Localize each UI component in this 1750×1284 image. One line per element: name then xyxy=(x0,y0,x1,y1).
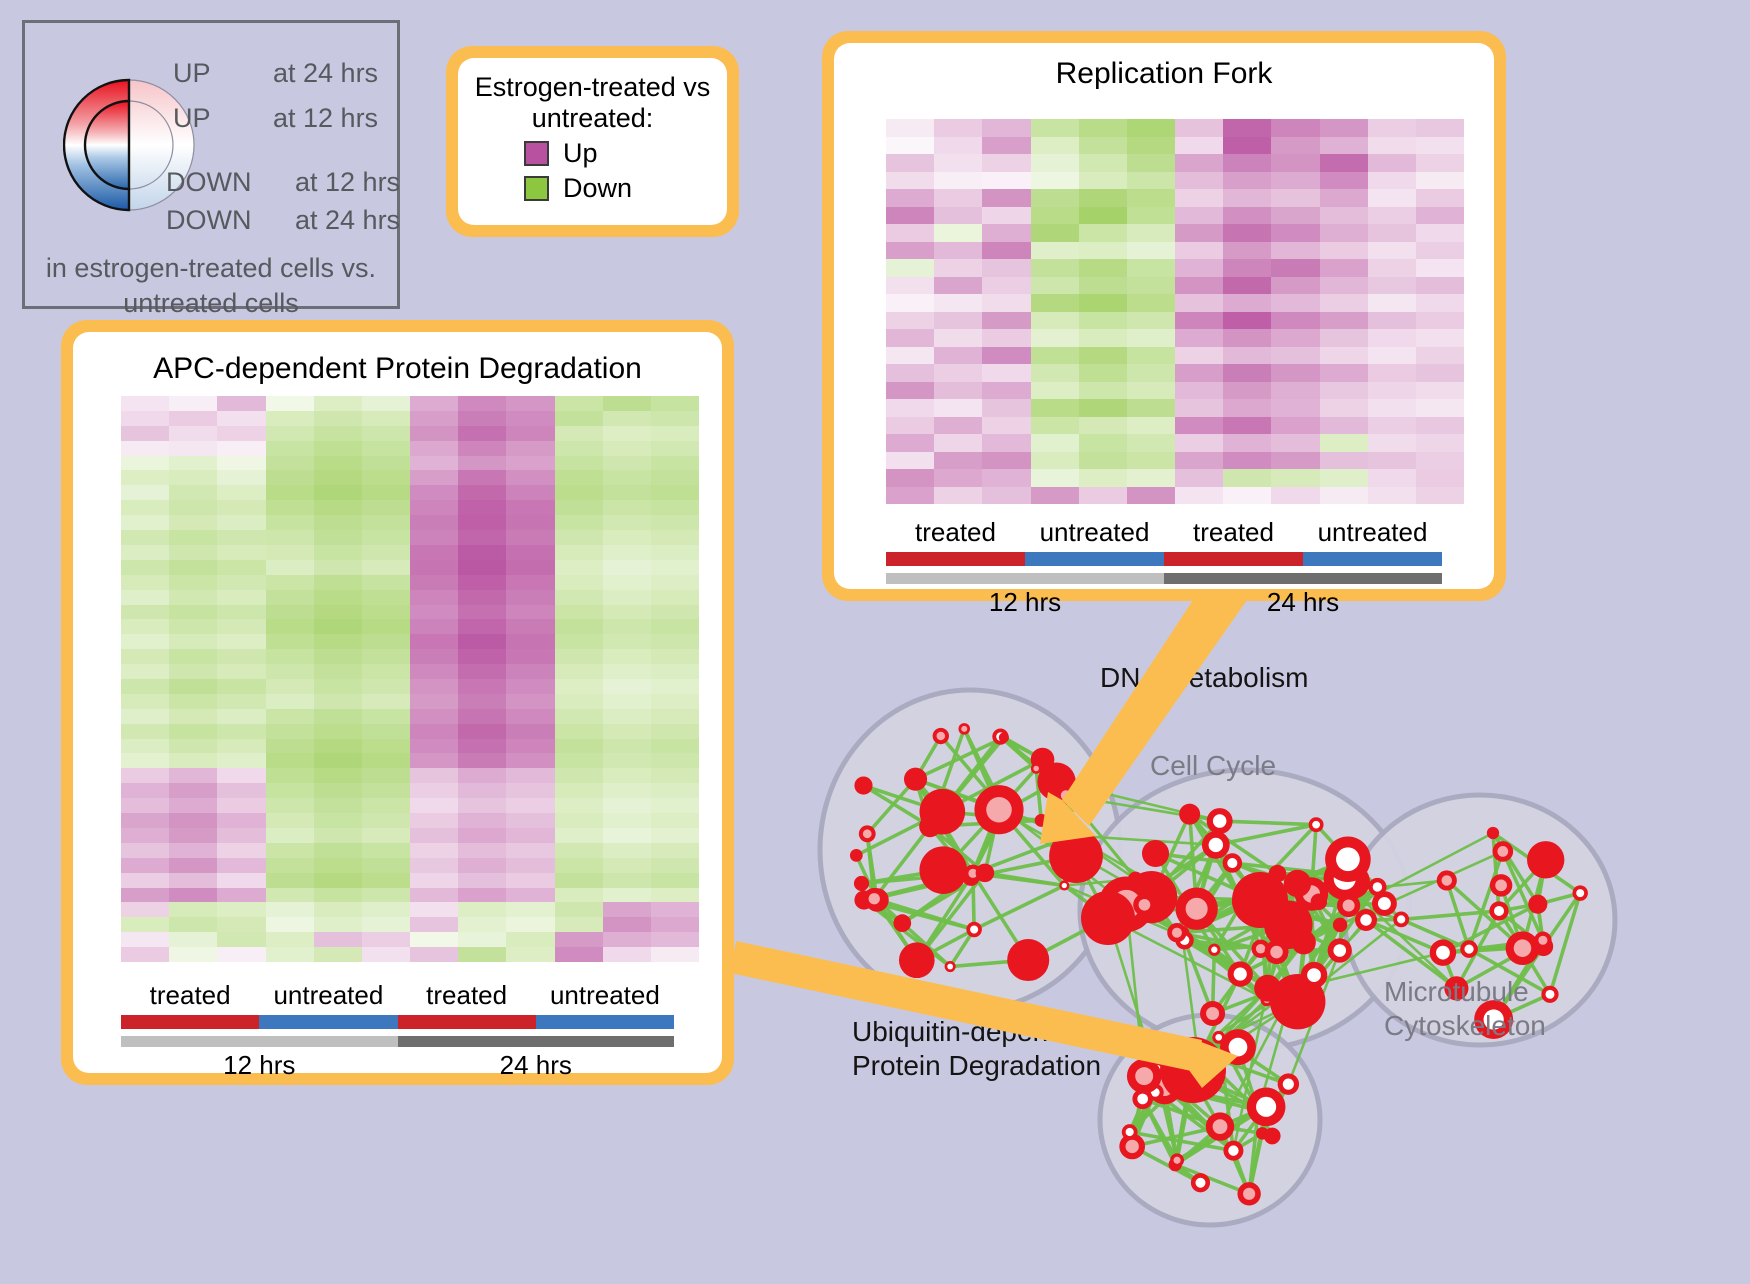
heatmap-cell xyxy=(169,634,217,649)
heatmap-cell xyxy=(1271,137,1319,155)
heatmap-cell xyxy=(934,452,982,470)
heatmap-cell xyxy=(1271,224,1319,242)
network-node xyxy=(1160,1037,1226,1103)
heatmap-cell xyxy=(982,452,1030,470)
heatmap-cell xyxy=(410,441,458,456)
heatmap-cell xyxy=(1368,434,1416,452)
heatmap-cell xyxy=(169,694,217,709)
heatmap-cell xyxy=(169,649,217,664)
heatmap-cell xyxy=(1223,242,1271,260)
heatmap-cell xyxy=(266,500,314,515)
heatmap-cell xyxy=(1368,189,1416,207)
heatmap-cell xyxy=(121,709,169,724)
heatmap-cell xyxy=(1223,399,1271,417)
heatmap-cell xyxy=(266,873,314,888)
heatmap-cell xyxy=(886,312,934,330)
heatmap-cell xyxy=(121,470,169,485)
heatmap-cell xyxy=(362,575,410,590)
heatmap-cell xyxy=(1031,487,1079,505)
heatmap-cell xyxy=(651,888,699,903)
heatmap-cell xyxy=(1031,434,1079,452)
heatmap-cell xyxy=(1320,172,1368,190)
heatmap-cell xyxy=(362,858,410,873)
heatmap-cell xyxy=(934,329,982,347)
heatmap-cell xyxy=(217,873,265,888)
heatmap-cell xyxy=(458,694,506,709)
heatmap-cell xyxy=(217,783,265,798)
heatmap-cell xyxy=(1175,277,1223,295)
heatmap-cell xyxy=(217,530,265,545)
column-label: untreated xyxy=(1303,517,1442,548)
heatmap-cell xyxy=(217,813,265,828)
network-node-core xyxy=(1195,1178,1205,1188)
heatmap-cell xyxy=(410,500,458,515)
heatmap-cell xyxy=(1175,312,1223,330)
heatmap-cell xyxy=(555,902,603,917)
heatmap-cell xyxy=(651,664,699,679)
heatmap-cell xyxy=(506,485,554,500)
heatmap-cell xyxy=(410,843,458,858)
heatmap-cell xyxy=(314,530,362,545)
heatmap-cell xyxy=(982,487,1030,505)
treatment-bar-segment xyxy=(121,1015,259,1029)
heatmap-cell xyxy=(314,813,362,828)
cluster-label-cell-cycle: Cell Cycle xyxy=(1150,750,1276,782)
heatmap-cell xyxy=(217,485,265,500)
heatmap-cell xyxy=(886,277,934,295)
up-colour-swatch xyxy=(524,141,549,166)
heatmap-cell xyxy=(1031,399,1079,417)
treatment-bar-segment xyxy=(259,1015,397,1029)
heatmap-cell xyxy=(603,917,651,932)
heatmap-cell xyxy=(169,724,217,739)
heatmap-cell xyxy=(651,902,699,917)
network-node-core xyxy=(937,732,946,741)
heatmap-cell xyxy=(121,590,169,605)
heatmap-cell xyxy=(1223,487,1271,505)
heatmap-cell xyxy=(603,813,651,828)
heatmap-cell xyxy=(603,783,651,798)
heatmap-cell xyxy=(1416,207,1464,225)
network-svg xyxy=(790,600,1750,1279)
key-label-down: Down xyxy=(563,173,632,204)
heatmap-cell xyxy=(651,932,699,947)
heatmap-cell xyxy=(982,259,1030,277)
heatmap-cell xyxy=(458,560,506,575)
heatmap-cell xyxy=(555,768,603,783)
heatmap-cell xyxy=(458,917,506,932)
heatmap-cell xyxy=(217,828,265,843)
heatmap-cell xyxy=(217,858,265,873)
column-label: treated xyxy=(1164,517,1303,548)
network-node-core xyxy=(1307,968,1321,982)
heatmap-cell xyxy=(1031,207,1079,225)
heatmap-cell xyxy=(362,545,410,560)
heatmap-cell xyxy=(410,783,458,798)
heatmap-cell xyxy=(169,500,217,515)
heatmap-cell xyxy=(555,441,603,456)
heatmap-cell xyxy=(458,545,506,560)
heatmap-cell xyxy=(982,294,1030,312)
network-node xyxy=(1311,893,1328,910)
heatmap-cell xyxy=(934,189,982,207)
heatmap-cell xyxy=(982,154,1030,172)
heatmap-cell xyxy=(1368,154,1416,172)
heatmap-cell xyxy=(169,515,217,530)
heatmap-cell xyxy=(1320,434,1368,452)
heatmap-cell xyxy=(314,470,362,485)
heatmap-cell xyxy=(314,679,362,694)
heatmap-cell xyxy=(1175,434,1223,452)
heatmap-cell xyxy=(458,649,506,664)
heatmap-cell xyxy=(314,441,362,456)
heatmap-cell xyxy=(651,634,699,649)
heatmap-cell xyxy=(362,634,410,649)
heatmap-cell xyxy=(886,137,934,155)
heatmap-cell xyxy=(169,813,217,828)
heatmap-cell xyxy=(934,119,982,137)
heatmap-cell xyxy=(1175,172,1223,190)
heatmap-cell xyxy=(266,724,314,739)
heatmap-cell xyxy=(555,798,603,813)
heatmap-cell xyxy=(314,917,362,932)
heatmap-cell xyxy=(458,947,506,962)
heatmap-cell xyxy=(266,619,314,634)
treatment-bar-segment xyxy=(1303,552,1442,566)
heatmap-cell xyxy=(314,575,362,590)
heatmap-cell xyxy=(458,441,506,456)
colour-scale-legend-box: UP at 24 hrs UP at 12 hrs DOWN at 12 hrs… xyxy=(22,20,400,309)
heatmap-cell xyxy=(1271,417,1319,435)
heatmap-cell xyxy=(506,917,554,932)
heatmap-cell xyxy=(651,441,699,456)
heatmap-cell xyxy=(217,411,265,426)
heatmap-cell xyxy=(314,664,362,679)
heatmap-cell xyxy=(217,888,265,903)
network-node-core xyxy=(1270,946,1283,959)
heatmap-cell xyxy=(410,858,458,873)
network-node xyxy=(1179,804,1200,825)
heatmap-cell xyxy=(1223,347,1271,365)
heatmap-cell xyxy=(458,932,506,947)
heatmap-cell xyxy=(555,917,603,932)
heatmap-cell xyxy=(266,888,314,903)
heatmap-cell xyxy=(410,947,458,962)
network-node xyxy=(893,914,911,932)
heatmap-cell xyxy=(506,768,554,783)
heatmap-cell xyxy=(362,828,410,843)
heatmap-cell xyxy=(1031,452,1079,470)
heatmap-cell xyxy=(314,828,362,843)
heatmap-cell xyxy=(410,679,458,694)
heatmap-cell xyxy=(506,470,554,485)
heatmap-cell xyxy=(1271,329,1319,347)
heatmap-cell xyxy=(1079,154,1127,172)
heatmap-cell xyxy=(1175,329,1223,347)
network-node-core xyxy=(1373,882,1382,891)
heatmap-cell xyxy=(506,634,554,649)
heatmap-cell xyxy=(1271,259,1319,277)
heatmap-cell xyxy=(982,242,1030,260)
heatmap-cell xyxy=(555,500,603,515)
heatmap-cell xyxy=(410,828,458,843)
heatmap-cell xyxy=(934,172,982,190)
heatmap-cell xyxy=(506,709,554,724)
heatmap-cell xyxy=(121,858,169,873)
heatmap-cell xyxy=(458,530,506,545)
replication-fork-title: Replication Fork xyxy=(834,43,1494,91)
heatmap-cell xyxy=(266,411,314,426)
heatmap-cell xyxy=(314,619,362,634)
heatmap-cell xyxy=(506,590,554,605)
heatmap-cell xyxy=(458,768,506,783)
heatmap-cell xyxy=(603,470,651,485)
network-node xyxy=(1128,872,1143,887)
heatmap-cell xyxy=(410,605,458,620)
heatmap-cell xyxy=(1079,259,1127,277)
heatmap-cell xyxy=(410,694,458,709)
heatmap-cell xyxy=(555,783,603,798)
heatmap-cell xyxy=(266,590,314,605)
heatmap-cell xyxy=(169,441,217,456)
heatmap-cell xyxy=(1223,224,1271,242)
heatmap-cell xyxy=(121,873,169,888)
heatmap-cell xyxy=(217,470,265,485)
heatmap-cell xyxy=(266,679,314,694)
heatmap-cell xyxy=(121,575,169,590)
heatmap-cell xyxy=(121,396,169,411)
heatmap-cell xyxy=(169,828,217,843)
heatmap-cell xyxy=(1320,347,1368,365)
heatmap-cell xyxy=(651,873,699,888)
network-node-core xyxy=(1497,846,1508,857)
heatmap-cell xyxy=(169,739,217,754)
heatmap-cell xyxy=(1127,224,1175,242)
heatmap-cell xyxy=(217,426,265,441)
network-node xyxy=(850,849,863,862)
heatmap-cell xyxy=(314,590,362,605)
heatmap-cell xyxy=(651,515,699,530)
heatmap-cell xyxy=(410,396,458,411)
network-node-core xyxy=(1126,1140,1139,1153)
heatmap-cell xyxy=(555,560,603,575)
heatmap-cell xyxy=(1368,259,1416,277)
heatmap-cell xyxy=(603,456,651,471)
network-node-core xyxy=(1135,1067,1153,1085)
network-node-core xyxy=(1173,1157,1180,1164)
heatmap-cell xyxy=(1271,154,1319,172)
heatmap-cell xyxy=(169,619,217,634)
heatmap-cell xyxy=(603,575,651,590)
treatment-bar-segment xyxy=(536,1015,674,1029)
heatmap-cell xyxy=(506,515,554,530)
heatmap-cell xyxy=(506,694,554,709)
heatmap-cell xyxy=(934,137,982,155)
heatmap-cell xyxy=(1368,312,1416,330)
heatmap-cell xyxy=(603,753,651,768)
heatmap-cell xyxy=(982,399,1030,417)
heatmap-cell xyxy=(217,753,265,768)
network-node xyxy=(899,942,935,978)
heatmap-cell xyxy=(1416,329,1464,347)
heatmap-cell xyxy=(458,724,506,739)
network-node xyxy=(1487,827,1499,839)
heatmap-cell xyxy=(603,768,651,783)
heatmap-cell xyxy=(458,873,506,888)
network-node-core xyxy=(1228,1145,1238,1155)
heatmap-cell xyxy=(1223,154,1271,172)
heatmap-cell xyxy=(458,634,506,649)
heatmap-cell xyxy=(506,441,554,456)
heatmap-cell xyxy=(458,739,506,754)
heatmap-cell xyxy=(555,530,603,545)
legend-time-down-12: at 12 hrs xyxy=(295,167,400,198)
heatmap-cell xyxy=(506,426,554,441)
heatmap-cell xyxy=(410,753,458,768)
network-node xyxy=(1232,872,1288,928)
heatmap-cell xyxy=(1127,452,1175,470)
heatmap-cell xyxy=(1127,487,1175,505)
column-label: untreated xyxy=(1025,517,1164,548)
network-node xyxy=(919,816,941,838)
heatmap-cell xyxy=(410,739,458,754)
heatmap-cell xyxy=(1271,189,1319,207)
heatmap-cell xyxy=(982,469,1030,487)
heatmap-cell xyxy=(934,434,982,452)
heatmap-cell xyxy=(314,634,362,649)
heatmap-cell xyxy=(603,634,651,649)
heatmap-cell xyxy=(555,947,603,962)
heatmap-cell xyxy=(1079,399,1127,417)
heatmap-cell xyxy=(121,768,169,783)
heatmap-cell xyxy=(1127,469,1175,487)
heatmap-cell xyxy=(458,753,506,768)
heatmap-cell xyxy=(1416,364,1464,382)
heatmap-cell xyxy=(169,560,217,575)
column-label: treated xyxy=(886,517,1025,548)
heatmap-cell xyxy=(1223,312,1271,330)
network-node-core xyxy=(1397,915,1405,923)
heatmap-cell xyxy=(266,470,314,485)
heatmap-cell xyxy=(121,441,169,456)
heatmap-cell xyxy=(314,888,362,903)
heatmap-cell xyxy=(266,917,314,932)
timepoint-bar-segment xyxy=(1164,573,1442,584)
heatmap-cell xyxy=(651,828,699,843)
heatmap-cell xyxy=(555,664,603,679)
heatmap-cell xyxy=(1416,469,1464,487)
heatmap-cell xyxy=(1079,469,1127,487)
heatmap-cell xyxy=(506,873,554,888)
heatmap-cell xyxy=(1416,452,1464,470)
heatmap-cell xyxy=(169,753,217,768)
heatmap-cell xyxy=(1127,382,1175,400)
heatmap-cell xyxy=(1368,277,1416,295)
replication-fork-treatment-bar xyxy=(886,552,1442,566)
heatmap-cell xyxy=(217,798,265,813)
heatmap-cell xyxy=(362,530,410,545)
heatmap-cell xyxy=(506,560,554,575)
heatmap-cell xyxy=(362,709,410,724)
heatmap-cell xyxy=(886,347,934,365)
heatmap-cell xyxy=(555,590,603,605)
heatmap-cell xyxy=(934,347,982,365)
heatmap-cell xyxy=(169,843,217,858)
heatmap-cell xyxy=(121,545,169,560)
heatmap-cell xyxy=(1416,277,1464,295)
heatmap-cell xyxy=(266,739,314,754)
heatmap-cell xyxy=(362,888,410,903)
heatmap-cell xyxy=(458,828,506,843)
heatmap-cell xyxy=(1320,452,1368,470)
heatmap-cell xyxy=(886,469,934,487)
heatmap-cell xyxy=(603,500,651,515)
heatmap-cell xyxy=(506,724,554,739)
legend-time-up-12: at 12 hrs xyxy=(273,103,378,134)
heatmap-cell xyxy=(362,813,410,828)
heatmap-cell xyxy=(506,753,554,768)
timepoint-label: 24 hrs xyxy=(398,1050,675,1081)
heatmap-cell xyxy=(1368,224,1416,242)
heatmap-cell xyxy=(1271,469,1319,487)
heatmap-cell xyxy=(1320,207,1368,225)
apc-heatmap xyxy=(121,396,699,962)
heatmap-cell xyxy=(1079,207,1127,225)
heatmap-cell xyxy=(934,417,982,435)
heatmap-cell xyxy=(314,724,362,739)
heatmap-cell xyxy=(1223,329,1271,347)
heatmap-cell xyxy=(266,813,314,828)
heatmap-cell xyxy=(410,888,458,903)
down-colour-swatch xyxy=(524,176,549,201)
heatmap-cell xyxy=(1079,434,1127,452)
heatmap-cell xyxy=(410,575,458,590)
heatmap-cell xyxy=(603,932,651,947)
heatmap-cell xyxy=(1079,277,1127,295)
heatmap-cell xyxy=(217,575,265,590)
heatmap-cell xyxy=(603,649,651,664)
heatmap-cell xyxy=(266,709,314,724)
heatmap-cell xyxy=(506,888,554,903)
heatmap-cell xyxy=(1175,347,1223,365)
heatmap-cell xyxy=(1031,224,1079,242)
heatmap-cell xyxy=(1416,434,1464,452)
column-label: untreated xyxy=(259,980,397,1011)
heatmap-cell xyxy=(169,709,217,724)
heatmap-cell xyxy=(266,649,314,664)
network-node-core xyxy=(1494,906,1504,916)
heatmap-cell xyxy=(603,902,651,917)
heatmap-cell xyxy=(603,590,651,605)
heatmap-cell xyxy=(121,649,169,664)
heatmap-cell xyxy=(603,411,651,426)
treatment-bar-segment xyxy=(1164,552,1303,566)
network-node-core xyxy=(1137,1094,1148,1105)
heatmap-cell xyxy=(217,605,265,620)
heatmap-cell xyxy=(555,739,603,754)
heatmap-cell xyxy=(217,515,265,530)
heatmap-cell xyxy=(121,783,169,798)
heatmap-cell xyxy=(506,500,554,515)
heatmap-cell xyxy=(410,649,458,664)
heatmap-cell xyxy=(1079,452,1127,470)
heatmap-cell xyxy=(266,396,314,411)
network-node-core xyxy=(1256,1097,1276,1117)
network-node xyxy=(919,846,967,894)
heatmap-cell xyxy=(603,619,651,634)
key-item-down: Down xyxy=(524,173,727,204)
heatmap-cell xyxy=(362,753,410,768)
